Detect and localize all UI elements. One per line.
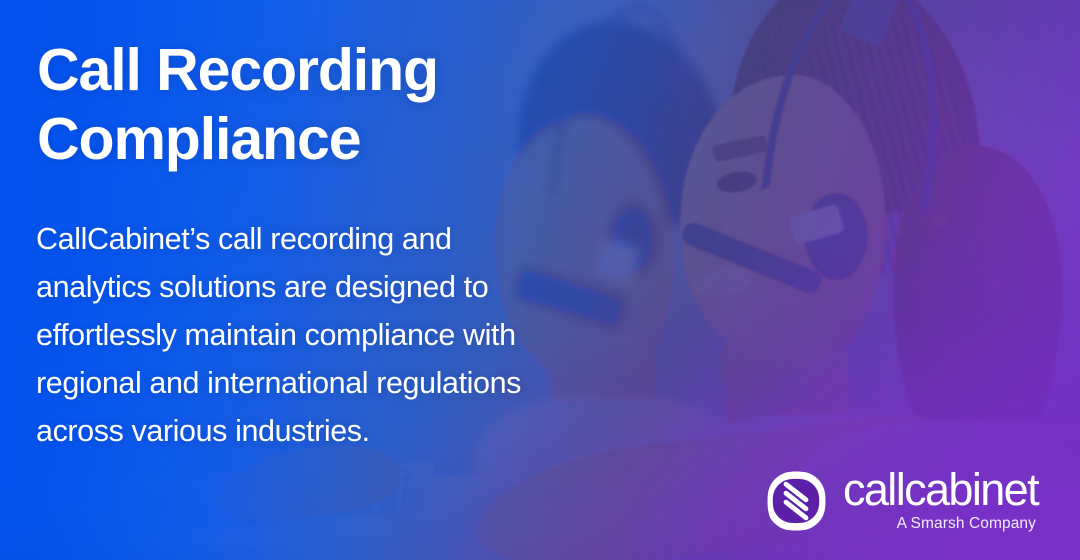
logo-text: callcabinet A Smarsh Company	[843, 467, 1038, 534]
callcabinet-logo[interactable]: callcabinet A Smarsh Company	[765, 467, 1038, 534]
logo-tagline: A Smarsh Company	[897, 514, 1036, 534]
logo-wordmark: callcabinet	[843, 467, 1038, 513]
banner-description: CallCabinet’s call recording and analyti…	[36, 215, 556, 455]
promo-banner: Call Recording Compliance CallCabinet’s …	[0, 0, 1080, 560]
callcabinet-squircle-bars-icon	[765, 470, 827, 532]
banner-content: Call Recording Compliance CallCabinet’s …	[0, 0, 1080, 560]
page-title: Call Recording Compliance	[37, 36, 597, 174]
